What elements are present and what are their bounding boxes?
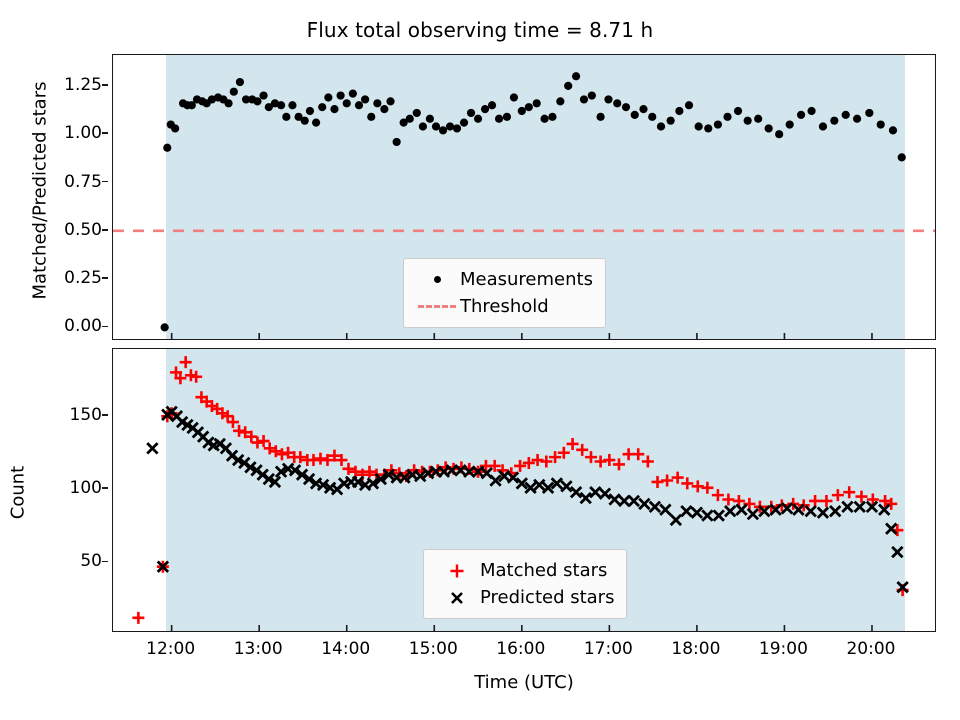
y-tick-mark <box>102 229 108 231</box>
legend-item-predicted-stars: Predicted stars <box>434 584 614 611</box>
count-y-axis-ticks: 50100150 <box>34 348 102 632</box>
legend-label-predicted-stars: Predicted stars <box>480 587 614 608</box>
y-tick-mark <box>102 84 108 86</box>
y-tick-label: 1.00 <box>64 123 102 143</box>
y-tick-label: 100 <box>70 478 102 498</box>
legend-label-threshold: Threshold <box>460 296 549 317</box>
x-tick-label: 15:00 <box>409 639 458 659</box>
ratio-y-axis-label: Matched/Predicted stars <box>30 61 51 321</box>
y-tick-label: 50 <box>80 551 102 571</box>
count-legend: Matched stars Predicted stars <box>423 549 627 619</box>
y-tick-label: 0.25 <box>64 268 102 288</box>
x-tick-label: 12:00 <box>146 639 195 659</box>
page-title: Flux total observing time = 8.71 h <box>0 18 960 42</box>
count-y-axis-label: Count <box>8 413 29 573</box>
x-tick-label: 14:00 <box>321 639 370 659</box>
threshold-line-icon <box>414 305 460 308</box>
y-tick-mark <box>102 277 108 279</box>
x-tick-label: 16:00 <box>496 639 545 659</box>
measurements-marker-icon <box>414 276 460 283</box>
x-tick-label: 13:00 <box>234 639 283 659</box>
predicted-stars-marker-icon <box>434 588 480 608</box>
x-tick-label: 18:00 <box>671 639 720 659</box>
x-tick-label: 17:00 <box>584 639 633 659</box>
y-tick-label: 1.25 <box>64 75 102 95</box>
legend-item-measurements: Measurements <box>414 266 593 293</box>
y-tick-label: 0.00 <box>64 316 102 336</box>
figure-canvas: Flux total observing time = 8.71 h 0.000… <box>0 0 960 720</box>
ratio-legend: Measurements Threshold <box>403 258 606 328</box>
y-tick-mark <box>102 181 108 183</box>
y-tick-mark <box>102 487 108 489</box>
x-axis-ticks: 12:0013:0014:0015:0016:0017:0018:0019:00… <box>112 639 936 663</box>
y-tick-mark <box>102 561 108 563</box>
y-tick-label: 0.50 <box>64 220 102 240</box>
legend-item-matched-stars: Matched stars <box>434 557 614 584</box>
y-tick-label: 150 <box>70 405 102 425</box>
legend-item-threshold: Threshold <box>414 293 593 320</box>
x-tick-label: 19:00 <box>759 639 808 659</box>
legend-label-measurements: Measurements <box>460 269 593 290</box>
legend-label-matched-stars: Matched stars <box>480 560 607 581</box>
y-tick-mark <box>102 414 108 416</box>
y-tick-mark <box>102 132 108 134</box>
x-tick-label: 20:00 <box>846 639 895 659</box>
x-axis-label: Time (UTC) <box>112 672 936 693</box>
matched-stars-marker-icon <box>434 561 480 581</box>
y-tick-label: 0.75 <box>64 172 102 192</box>
y-tick-mark <box>102 326 108 328</box>
